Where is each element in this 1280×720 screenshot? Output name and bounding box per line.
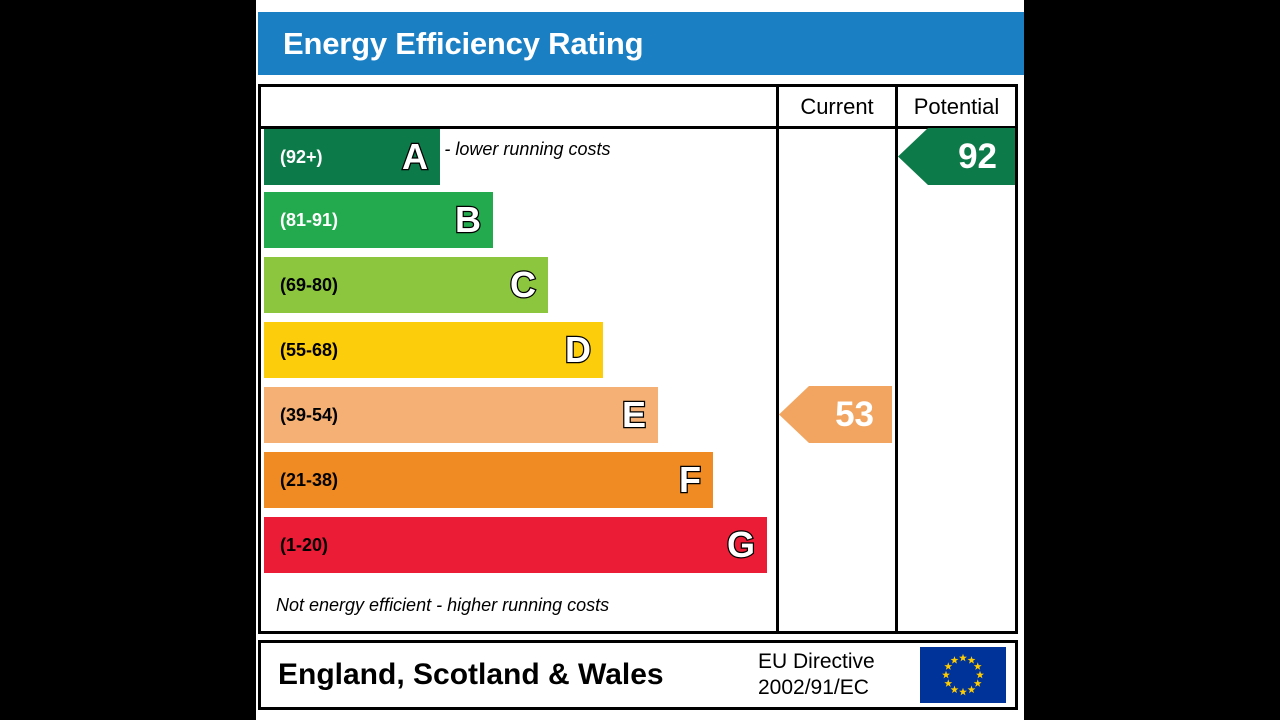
footer-directive-label: EU Directive 2002/91/EC (758, 649, 875, 702)
band-letter-b: B (455, 202, 485, 238)
rating-table: Current Potential Very energy efficient … (258, 84, 1018, 634)
band-letter-d: D (565, 332, 595, 368)
band-letter-f: F (679, 462, 705, 498)
column-divider-current (776, 129, 779, 634)
footer-directive-line2: 2002/91/EC (758, 675, 875, 701)
bands-area: Very energy efficient - lower running co… (261, 129, 776, 634)
current-rating-arrow: 53 (779, 386, 892, 443)
band-range-a: (92+) (280, 148, 323, 166)
band-range-g: (1-20) (280, 536, 328, 554)
band-row-a: (92+) A (264, 129, 440, 185)
band-range-f: (21-38) (280, 471, 338, 489)
current-rating-value: 53 (835, 397, 874, 432)
title-banner: Energy Efficiency Rating (258, 12, 1024, 75)
band-letter-a: A (402, 139, 432, 175)
potential-rating-value: 92 (958, 139, 997, 174)
band-row-c: (69-80) C (264, 257, 548, 313)
column-header-row: Current Potential (261, 87, 1015, 129)
band-range-d: (55-68) (280, 341, 338, 359)
page-title: Energy Efficiency Rating (258, 26, 643, 62)
band-letter-e: E (622, 397, 650, 433)
column-header-current: Current (776, 87, 895, 126)
band-range-c: (69-80) (280, 276, 338, 294)
footer-region-label: England, Scotland & Wales (278, 658, 664, 692)
column-divider-potential (895, 129, 898, 634)
band-letter-g: G (727, 527, 759, 563)
band-row-e: (39-54) E (264, 387, 658, 443)
band-row-d: (55-68) D (264, 322, 603, 378)
footer-bar: England, Scotland & Wales EU Directive 2… (258, 640, 1018, 710)
note-not-efficient: Not energy efficient - higher running co… (276, 595, 609, 616)
eu-flag-icon (920, 647, 1006, 703)
epc-certificate: Energy Efficiency Rating Current Potenti… (256, 0, 1024, 720)
band-row-g: (1-20) G (264, 517, 767, 573)
band-letter-c: C (510, 267, 540, 303)
column-header-potential: Potential (895, 87, 1015, 126)
band-row-f: (21-38) F (264, 452, 713, 508)
band-range-b: (81-91) (280, 211, 338, 229)
potential-rating-arrow: 92 (898, 128, 1015, 185)
footer-directive-line1: EU Directive (758, 649, 875, 675)
band-row-b: (81-91) B (264, 192, 493, 248)
band-range-e: (39-54) (280, 406, 338, 424)
